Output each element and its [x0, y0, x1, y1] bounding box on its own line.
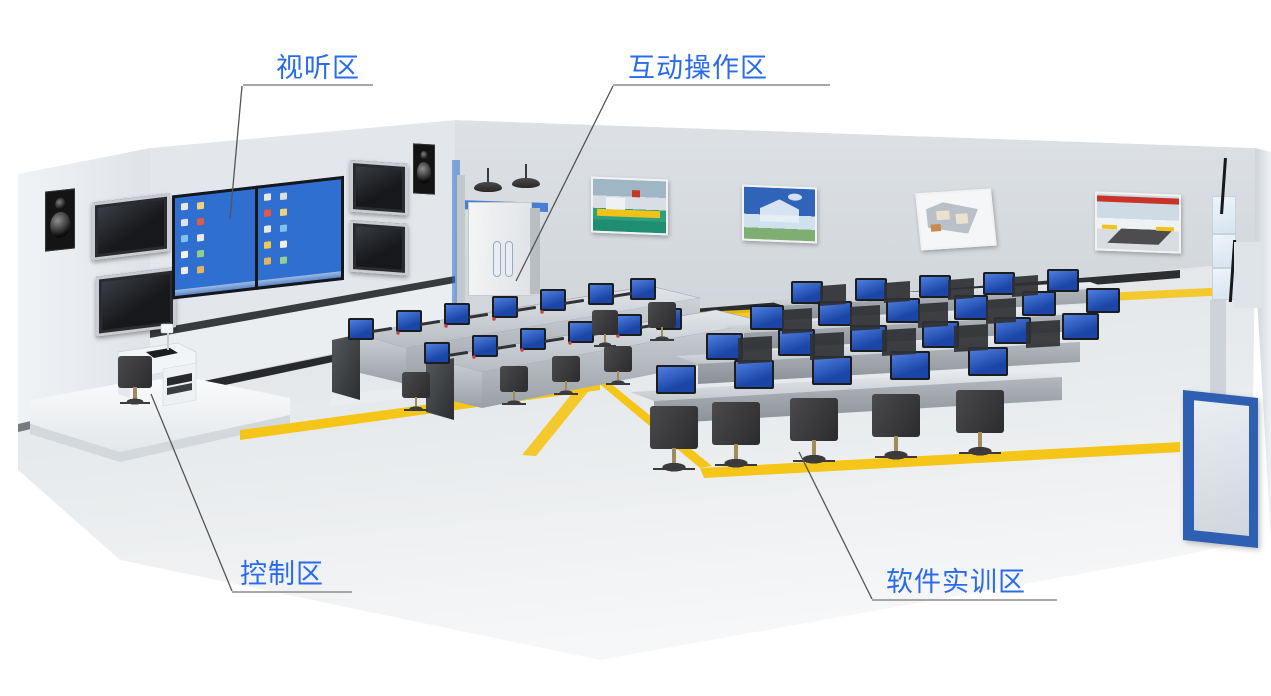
operator-chair[interactable]	[402, 372, 430, 414]
console-monitor[interactable]	[616, 314, 642, 336]
lcd-monitor[interactable]	[656, 365, 696, 394]
console-monitor[interactable]	[540, 289, 566, 311]
scene-illustration: 视听区 互动操作区 控制区 软件实训区	[0, 0, 1271, 696]
speaker-tweeter	[55, 197, 65, 210]
console-monitor[interactable]	[588, 283, 614, 305]
console-monitor[interactable]	[492, 296, 518, 318]
lcd-monitor[interactable]	[886, 298, 920, 323]
poster-building	[742, 185, 817, 244]
console-monitor[interactable]	[444, 303, 470, 325]
lcd-monitor[interactable]	[818, 301, 852, 326]
lcd-monitor[interactable]	[890, 351, 930, 380]
zone-label-av: 视听区	[276, 46, 360, 85]
console-monitor[interactable]	[568, 321, 594, 343]
console-monitor[interactable]	[396, 310, 422, 332]
wall-speaker-corner	[413, 143, 435, 194]
zone-label-control: 控制区	[240, 552, 324, 591]
wall-tv-4	[350, 220, 408, 276]
lcd-monitor[interactable]	[922, 321, 959, 348]
right-wall-pillar	[1234, 242, 1262, 308]
lcd-monitor[interactable]	[968, 347, 1008, 376]
white-double-door[interactable]	[468, 202, 532, 296]
lcd-monitor[interactable]	[954, 295, 988, 320]
student-chair[interactable]	[956, 390, 1004, 460]
wall-cabinet-side	[530, 208, 540, 294]
right-wall-window-1	[1212, 196, 1236, 234]
large-dual-display-wall[interactable]	[172, 177, 338, 294]
poster-warehouse	[1095, 191, 1181, 253]
lcd-monitor[interactable]	[778, 329, 815, 356]
lcd-monitor[interactable]	[1062, 313, 1099, 340]
lcd-monitor[interactable]	[919, 275, 951, 298]
lcd-monitor[interactable]	[812, 356, 852, 385]
lcd-monitor[interactable]	[1047, 269, 1079, 292]
info-display-board[interactable]	[1183, 390, 1258, 548]
wall-speaker-left	[45, 188, 75, 251]
student-chair[interactable]	[712, 402, 760, 472]
display-panel-right[interactable]	[255, 176, 344, 290]
lcd-monitor[interactable]	[750, 305, 784, 330]
wall-tv-3	[350, 160, 408, 216]
operator-chair[interactable]	[500, 366, 528, 408]
zone-label-interactive: 互动操作区	[628, 46, 768, 85]
room-shell	[0, 0, 1271, 696]
operator-chair[interactable]	[648, 302, 676, 344]
lcd-monitor[interactable]	[1022, 291, 1056, 316]
lcd-monitor[interactable]	[706, 333, 743, 360]
student-chair[interactable]	[650, 406, 698, 476]
lcd-monitor[interactable]	[734, 360, 774, 389]
zone-label-software: 软件实训区	[886, 560, 1026, 599]
lcd-monitor[interactable]	[850, 325, 887, 352]
wall-tv-2	[96, 267, 176, 337]
poster-floorplan	[915, 189, 997, 251]
pendant-lamp-1	[474, 168, 502, 192]
console-monitor[interactable]	[630, 278, 656, 300]
operator-chair[interactable]	[592, 310, 618, 350]
student-chair[interactable]	[872, 394, 920, 464]
lcd-monitor[interactable]	[1086, 288, 1120, 313]
poster-factory	[591, 177, 668, 236]
console-monitor[interactable]	[472, 335, 498, 357]
console-monitor[interactable]	[348, 318, 374, 340]
student-chair[interactable]	[790, 398, 838, 468]
console-monitor[interactable]	[424, 342, 450, 364]
door-handle-right[interactable]	[505, 241, 513, 277]
operator-chair[interactable]	[604, 346, 632, 388]
pendant-lamp-2	[512, 164, 540, 188]
operator-chair[interactable]	[552, 356, 580, 398]
teacher-chair[interactable]	[118, 356, 152, 408]
lcd-monitor[interactable]	[983, 272, 1015, 295]
door-frame-column	[457, 175, 465, 305]
speaker-woofer	[417, 162, 431, 184]
lcd-monitor[interactable]	[994, 317, 1031, 344]
door-handle-left[interactable]	[493, 241, 501, 277]
console-monitor[interactable]	[520, 328, 546, 350]
wall-tv-1	[92, 193, 170, 261]
display-panel-left[interactable]	[172, 185, 260, 299]
speaker-woofer	[50, 211, 70, 239]
info-board-panel	[1194, 400, 1249, 536]
speaker-tweeter	[421, 151, 428, 161]
lcd-monitor[interactable]	[855, 278, 887, 301]
